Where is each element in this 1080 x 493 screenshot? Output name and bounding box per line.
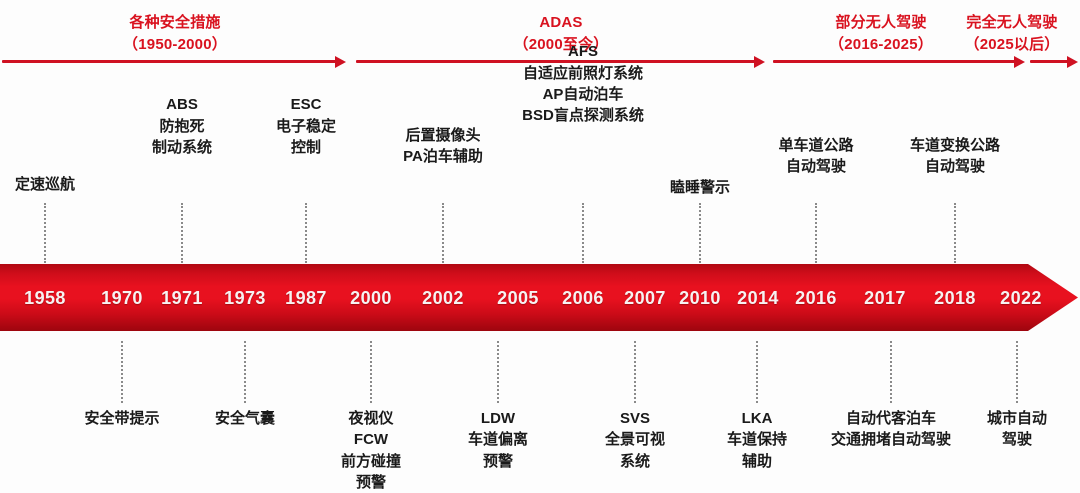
year-label-2017[interactable]: 2017: [864, 288, 906, 309]
arrow-head-icon: [1014, 56, 1025, 68]
event-line: 自动驾驶: [778, 156, 853, 177]
year-label-2018[interactable]: 2018: [934, 288, 976, 309]
event-label-abs[interactable]: ABS防抱死制动系统: [152, 94, 212, 158]
event-label-single-lane-highway-autodrive[interactable]: 单车道公路自动驾驶: [778, 135, 853, 178]
event-line: 自动代客泊车: [831, 408, 951, 429]
event-line: FCW: [341, 429, 401, 450]
event-label-svs[interactable]: SVS全景可视系统: [605, 408, 665, 472]
event-line: 自动驾驶: [910, 156, 1000, 177]
event-line: 电子稳定: [276, 116, 336, 137]
event-line: 驾驶: [987, 429, 1047, 450]
event-line: 辅助: [727, 451, 787, 472]
event-line: 定速巡航: [15, 174, 75, 195]
connector-line-drowsiness-warning: [699, 203, 703, 263]
event-line: LDW: [468, 408, 528, 429]
arrow-shaft: [2, 60, 336, 63]
connector-line-urban-autodrive: [1016, 341, 1020, 403]
connector-line-lka: [756, 341, 760, 403]
connector-line-svs: [634, 341, 638, 403]
event-line: 夜视仪: [341, 408, 401, 429]
connector-line-night-vision-fcw: [370, 341, 374, 403]
year-label-1973[interactable]: 1973: [224, 288, 266, 309]
event-line: 全景可视: [605, 429, 665, 450]
connector-line-cruise-control: [44, 203, 48, 263]
connector-line-valet-parking-traffic-jam: [890, 341, 894, 403]
event-line: 防抱死: [152, 116, 212, 137]
year-label-2022[interactable]: 2022: [1000, 288, 1042, 309]
event-line: 瞌睡警示: [670, 177, 730, 198]
year-label-1958[interactable]: 1958: [24, 288, 66, 309]
connector-line-single-lane-highway-autodrive: [815, 203, 819, 263]
event-label-ldw[interactable]: LDW车道偏离预警: [468, 408, 528, 472]
event-line: AP自动泊车: [522, 84, 644, 105]
phase-arrow-partial-autonomous-driving: [773, 56, 1025, 68]
event-line: 交通拥堵自动驾驶: [831, 429, 951, 450]
event-label-valet-parking-traffic-jam[interactable]: 自动代客泊车交通拥堵自动驾驶: [831, 408, 951, 451]
year-label-1987[interactable]: 1987: [285, 288, 327, 309]
connector-line-seatbelt-reminder: [121, 341, 125, 403]
event-line: 控制: [276, 137, 336, 158]
arrow-head-icon: [1067, 56, 1078, 68]
event-line: 车道偏离: [468, 429, 528, 450]
year-label-2007[interactable]: 2007: [624, 288, 666, 309]
event-line: PA泊车辅助: [403, 146, 483, 167]
event-label-rear-camera-pa[interactable]: 后置摄像头PA泊车辅助: [403, 125, 483, 168]
phase-title-text: 各种安全措施: [129, 14, 220, 31]
event-line: 城市自动: [987, 408, 1047, 429]
event-line: SVS: [605, 408, 665, 429]
event-label-lka[interactable]: LKA车道保持辅助: [727, 408, 787, 472]
event-line: 车道保持: [727, 429, 787, 450]
event-line: 制动系统: [152, 137, 212, 158]
year-label-2010[interactable]: 2010: [679, 288, 721, 309]
event-label-lane-change-highway-autodrive[interactable]: 车道变换公路自动驾驶: [910, 135, 1000, 178]
event-line: BSD盲点探测系统: [522, 105, 644, 126]
event-line: 预警: [468, 451, 528, 472]
connector-line-afs-ap-bsd: [582, 203, 586, 263]
arrow-head-icon: [754, 56, 765, 68]
connector-line-airbag: [244, 341, 248, 403]
phase-title-text: 部分无人驾驶: [835, 14, 926, 31]
arrow-head-icon: [335, 56, 346, 68]
phase-period-text: （2016-2025）: [829, 34, 933, 56]
event-line: 安全气囊: [215, 408, 275, 429]
event-line: ESC: [276, 94, 336, 115]
phase-period-text: （1950-2000）: [123, 34, 227, 56]
event-line: 安全带提示: [84, 408, 159, 429]
year-label-1971[interactable]: 1971: [161, 288, 203, 309]
phase-arrow-various-safety-measures: [2, 56, 346, 68]
phase-title-full-autonomous-driving: 完全无人驾驶（2025以后）: [965, 12, 1060, 56]
event-line: 前方碰撞: [341, 451, 401, 472]
event-line: AFS: [522, 41, 644, 62]
phase-arrow-full-autonomous-driving: [1030, 56, 1078, 68]
phase-title-text: ADAS: [539, 14, 582, 31]
event-label-airbag[interactable]: 安全气囊: [215, 408, 275, 429]
phase-title-partial-autonomous-driving: 部分无人驾驶（2016-2025）: [829, 12, 933, 56]
event-label-esc[interactable]: ESC电子稳定控制: [276, 94, 336, 158]
event-line: 系统: [605, 451, 665, 472]
arrow-shaft: [773, 60, 1015, 63]
event-label-afs-ap-bsd[interactable]: AFS自适应前照灯系统AP自动泊车BSD盲点探测系统: [522, 41, 644, 126]
event-label-seatbelt-reminder[interactable]: 安全带提示: [84, 408, 159, 429]
phase-title-text: 完全无人驾驶: [966, 14, 1057, 31]
event-label-night-vision-fcw[interactable]: 夜视仪FCW前方碰撞预警: [341, 408, 401, 493]
year-label-2000[interactable]: 2000: [350, 288, 392, 309]
year-label-2014[interactable]: 2014: [737, 288, 779, 309]
phase-period-text: （2025以后）: [965, 34, 1060, 56]
year-label-2006[interactable]: 2006: [562, 288, 604, 309]
year-label-1970[interactable]: 1970: [101, 288, 143, 309]
timeline-infographic: 各种安全措施（1950-2000）ADAS（2000至今）部分无人驾驶（2016…: [0, 0, 1080, 493]
connector-line-lane-change-highway-autodrive: [954, 203, 958, 263]
event-label-drowsiness-warning[interactable]: 瞌睡警示: [670, 177, 730, 198]
connector-line-ldw: [497, 341, 501, 403]
year-label-2005[interactable]: 2005: [497, 288, 539, 309]
phase-title-various-safety-measures: 各种安全措施（1950-2000）: [123, 12, 227, 56]
event-label-cruise-control[interactable]: 定速巡航: [15, 174, 75, 195]
event-line: 后置摄像头: [403, 125, 483, 146]
event-line: 自适应前照灯系统: [522, 63, 644, 84]
year-label-2002[interactable]: 2002: [422, 288, 464, 309]
event-label-urban-autodrive[interactable]: 城市自动驾驶: [987, 408, 1047, 451]
connector-line-esc: [305, 203, 309, 263]
arrow-shaft: [1030, 60, 1068, 63]
connector-line-rear-camera-pa: [442, 203, 446, 263]
event-line: ABS: [152, 94, 212, 115]
event-line: 单车道公路: [778, 135, 853, 156]
event-line: 车道变换公路: [910, 135, 1000, 156]
connector-line-abs: [181, 203, 185, 263]
event-line: 预警: [341, 472, 401, 493]
event-line: LKA: [727, 408, 787, 429]
year-label-2016[interactable]: 2016: [795, 288, 837, 309]
